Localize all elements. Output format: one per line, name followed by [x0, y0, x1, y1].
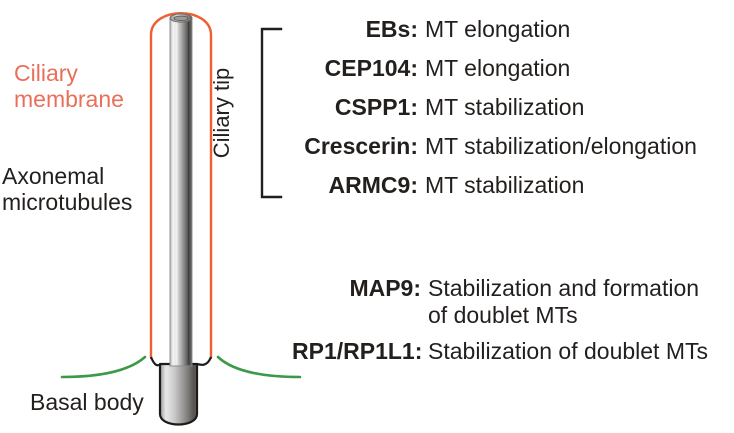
ciliary-tip-protein-list: EBs: MT elongation CEP104: MT elongation… [292, 16, 734, 211]
axoneme-tube-lumen [174, 16, 188, 21]
shaft-protein-list: MAP9: Stabilization and formation of dou… [292, 275, 734, 374]
ciliary-tip-bracket [262, 29, 281, 197]
ciliary-membrane-label: Ciliary membrane [14, 60, 124, 112]
basal-body [160, 364, 197, 425]
protein-function: Stabilization of doublet MTs [421, 338, 708, 365]
protein-name: Crescerin: [292, 133, 418, 160]
protein-row-cep104: CEP104: MT elongation [292, 55, 734, 94]
protein-name: EBs: [292, 16, 418, 43]
protein-row-ebs: EBs: MT elongation [292, 16, 734, 55]
basal-body-label: Basal body [30, 389, 144, 415]
protein-name: MAP9: [292, 275, 421, 302]
plasma-membrane-left [62, 357, 145, 377]
protein-row-crescerin: Crescerin: MT stabilization/elongation [292, 133, 734, 172]
protein-name: ARMC9: [292, 172, 418, 199]
axonemal-microtubules-label: Axonemal microtubules [2, 163, 132, 215]
protein-function-line2: of doublet MTs [428, 302, 699, 329]
protein-function: MT elongation [418, 55, 570, 82]
transition-zone-right [197, 357, 211, 365]
ciliary-tip-label: Ciliary tip [209, 68, 235, 158]
protein-name: CEP104: [292, 55, 418, 82]
protein-function: MT stabilization [418, 172, 584, 199]
protein-function-line1: Stabilization of doublet MTs [428, 338, 708, 364]
protein-row-map9: MAP9: Stabilization and formation of dou… [292, 275, 734, 329]
protein-name: RP1/RP1L1: [292, 338, 421, 365]
protein-function: MT stabilization/elongation [418, 133, 697, 160]
cilium-diagram: Ciliary membrane Axonemal microtubules B… [0, 0, 734, 433]
protein-function-line1: Stabilization and formation [428, 275, 699, 301]
protein-function: Stabilization and formation of doublet M… [421, 275, 699, 329]
protein-row-armc9: ARMC9: MT stabilization [292, 172, 734, 211]
protein-row-rp1-rp1l1: RP1/RP1L1: Stabilization of doublet MTs [292, 338, 734, 365]
protein-function: MT stabilization [418, 94, 584, 121]
protein-row-cspp1: CSPP1: MT stabilization [292, 94, 734, 133]
protein-function: MT elongation [418, 16, 570, 43]
plasma-membrane-right [218, 357, 300, 377]
protein-name: CSPP1: [292, 94, 418, 121]
